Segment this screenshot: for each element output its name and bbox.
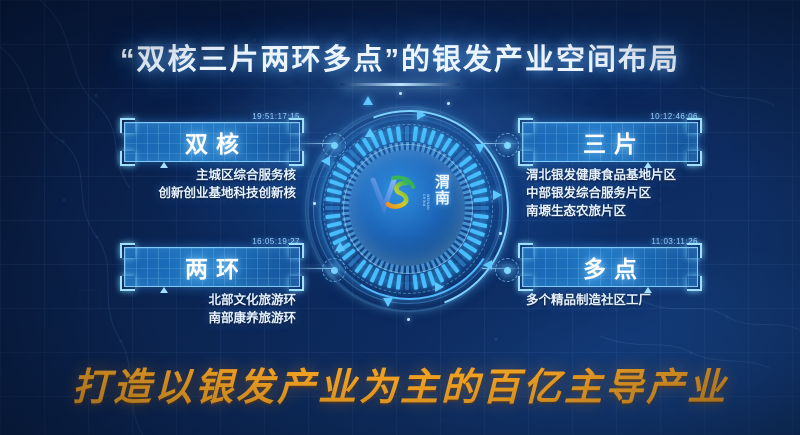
badge-pip-icon xyxy=(644,287,652,293)
badge-pip-icon xyxy=(160,287,168,293)
badge-pip-icon xyxy=(160,162,168,168)
card-detail-line: 主城区综合服务核 xyxy=(124,167,296,185)
card-timestamp: 11:03:11:26 xyxy=(522,237,698,247)
hud-tick xyxy=(325,206,340,210)
logo-subtext: WEINAN CHINA xyxy=(422,194,430,220)
hud-dot xyxy=(399,92,402,95)
card-lianghuan[interactable]: 16:05:19:27 两环 北部文化旅游环 南部康养旅游环 xyxy=(124,237,300,328)
hud-tick xyxy=(396,126,402,141)
hud-tick xyxy=(472,188,488,195)
card-label: 多点 xyxy=(522,247,698,287)
card-timestamp: 16:05:19:27 xyxy=(124,237,300,247)
hud-marker-triangle xyxy=(493,190,502,200)
logo-text: 渭南 xyxy=(433,174,449,206)
card-shuanghe[interactable]: 19:51:17:15 双核 主城区综合服务核 创新创业基地科技创新核 xyxy=(124,112,300,203)
hud-tick xyxy=(396,274,402,289)
hud-marker-triangle xyxy=(363,96,373,105)
hud-marker-triangle xyxy=(365,128,375,137)
badge-pip-icon xyxy=(644,162,652,168)
hud-tick xyxy=(420,128,427,144)
hud-marker-triangle xyxy=(383,298,393,307)
hud-tick xyxy=(325,197,340,203)
hud-marker-triangle xyxy=(483,260,492,270)
card-detail-line: 多个精品制造社区工厂 xyxy=(526,292,698,310)
card-badge[interactable]: 双核 xyxy=(124,122,300,162)
card-detail-line: 创新创业基地科技创新核 xyxy=(124,185,296,203)
card-label: 三片 xyxy=(522,122,698,162)
title-underline xyxy=(340,83,460,86)
page-title: “双核三片两环多点”的银发产业空间布局 xyxy=(0,36,800,78)
card-detail-line: 中部银发综合服务片区 xyxy=(526,185,698,203)
hud-tick xyxy=(473,197,488,203)
hud-tick xyxy=(325,214,340,220)
hud-tick xyxy=(473,214,488,220)
card-detail-line: 南塬生态农旅片区 xyxy=(526,203,698,221)
hud-dot xyxy=(313,202,316,205)
hud-tick xyxy=(420,273,427,289)
card-detail-lines: 主城区综合服务核 创新创业基地科技创新核 xyxy=(124,167,300,203)
card-detail-lines: 多个精品制造社区工厂 xyxy=(522,292,698,310)
hud-tick xyxy=(327,221,343,228)
hud-tick xyxy=(413,274,419,289)
card-detail-line: 北部文化旅游环 xyxy=(124,292,296,310)
card-badge[interactable]: 多点 xyxy=(522,247,698,287)
hud-dot xyxy=(499,232,502,235)
hud-tick xyxy=(472,221,488,228)
central-hud-graphic: 渭南 WEINAN CHINA xyxy=(307,92,507,332)
hud-tick xyxy=(405,126,409,141)
card-detail-line: 南部康养旅游环 xyxy=(124,310,296,328)
card-badge[interactable]: 三片 xyxy=(522,122,698,162)
hud-tick xyxy=(413,126,419,141)
hud-tick xyxy=(474,206,489,210)
card-detail-lines: 渭北银发健康食品基地片区 中部银发综合服务片区 南塬生态农旅片区 xyxy=(522,167,698,220)
card-duodian[interactable]: 11:03:11:26 多点 多个精品制造社区工厂 xyxy=(522,237,698,310)
hud-dot xyxy=(407,318,410,321)
hud-marker-triangle xyxy=(417,110,426,120)
hud-marker-triangle xyxy=(335,242,345,251)
hud-tick xyxy=(387,273,394,289)
hud-tick xyxy=(405,275,409,290)
hud-marker-triangle xyxy=(435,282,444,292)
card-timestamp: 19:51:17:15 xyxy=(124,112,300,122)
card-timestamp: 10:12:46:06 xyxy=(522,112,698,122)
card-label: 两环 xyxy=(124,247,300,287)
hud-tick xyxy=(387,128,394,144)
weinan-logo: 渭南 WEINAN CHINA xyxy=(367,170,449,220)
hud-marker-triangle xyxy=(321,156,330,166)
hud-marker-triangle xyxy=(475,144,485,153)
card-detail-lines: 北部文化旅游环 南部康养旅游环 xyxy=(124,292,300,328)
bottom-headline: 打造以银发产业为主的百亿主导产业 xyxy=(0,356,800,411)
card-sanpian[interactable]: 10:12:46:06 三片 渭北银发健康食品基地片区 中部银发综合服务片区 南… xyxy=(522,112,698,220)
slide-canvas: “双核三片两环多点”的银发产业空间布局 xyxy=(0,0,800,435)
card-detail-line: 渭北银发健康食品基地片区 xyxy=(526,167,698,185)
card-label: 双核 xyxy=(124,122,300,162)
hud-dot xyxy=(447,102,450,105)
hud-tick xyxy=(327,188,343,195)
card-badge[interactable]: 两环 xyxy=(124,247,300,287)
